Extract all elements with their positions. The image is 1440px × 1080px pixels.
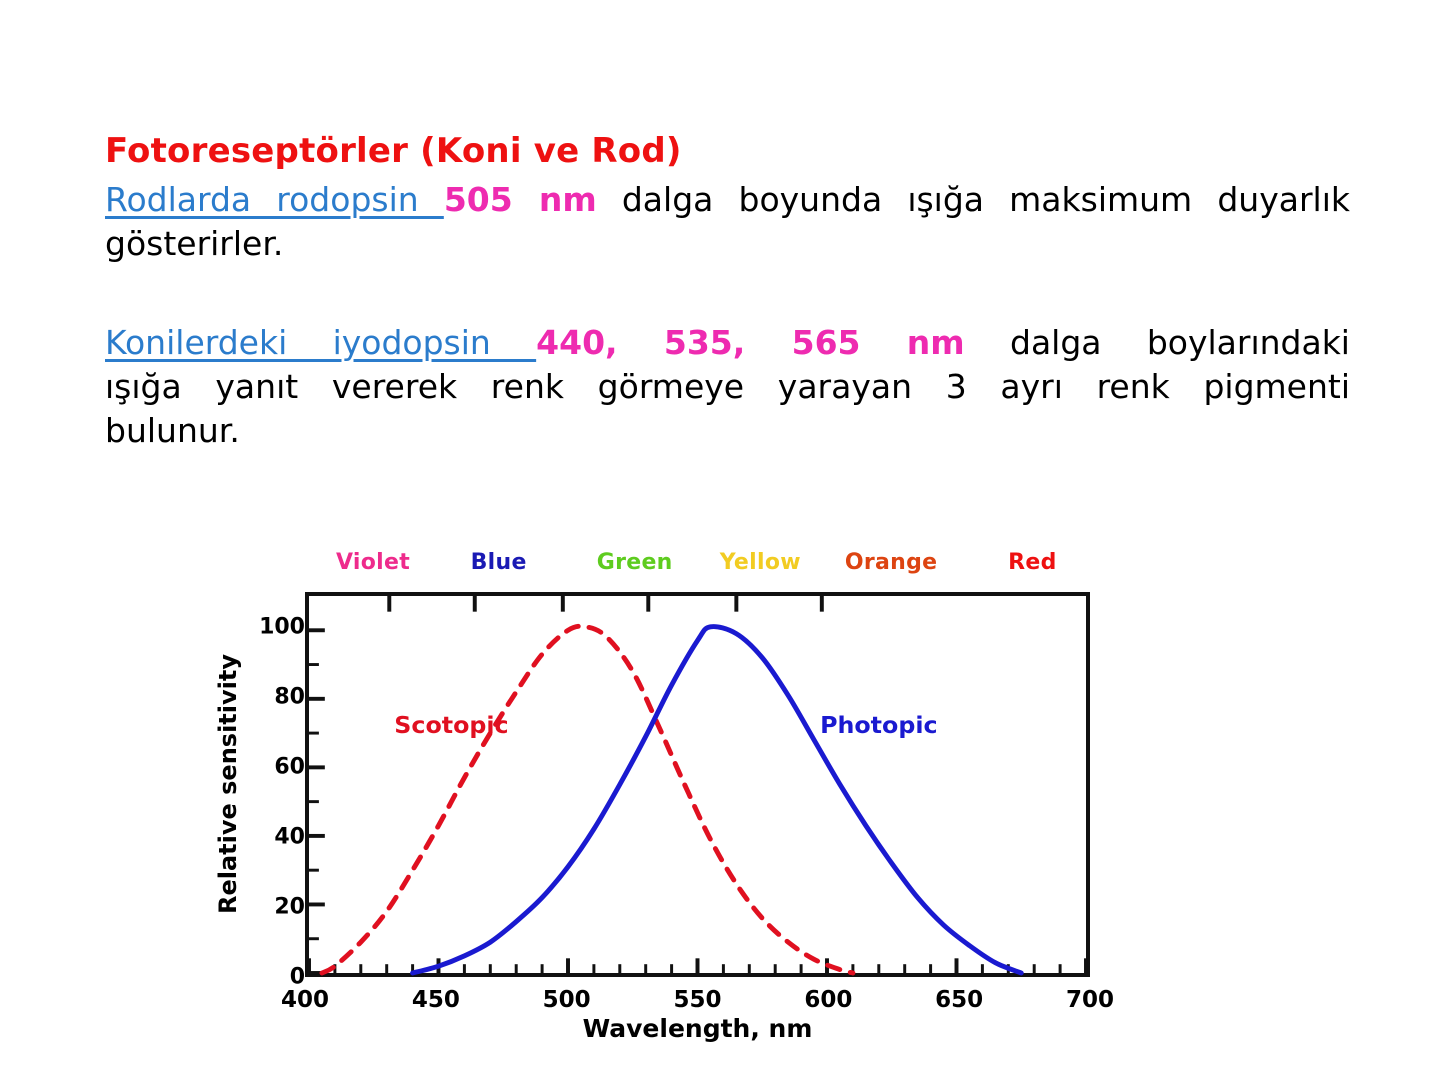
x-tick-600: 600 bbox=[804, 987, 852, 1013]
y-tick-100: 100 bbox=[259, 615, 305, 640]
band-label-red: Red bbox=[1008, 550, 1057, 575]
paragraph-cones-rest: dalga boylarındaki bbox=[965, 323, 1350, 362]
band-label-green: Green bbox=[597, 550, 673, 575]
y-tick-80: 80 bbox=[259, 685, 305, 710]
slide-canvas: Fotoreseptörler (Koni ve Rod) Rodlarda r… bbox=[0, 0, 1440, 1080]
link-konilerdeki-iyodopsin[interactable]: Konilerdeki iyodopsin bbox=[105, 323, 536, 362]
plot-svg: ScotopicPhotopic bbox=[309, 596, 1086, 973]
paragraph-cones: Konilerdeki iyodopsin 440, 535, 565 nm d… bbox=[105, 321, 1350, 453]
paragraph-spacer bbox=[105, 266, 1350, 320]
x-tick-450: 450 bbox=[412, 987, 460, 1013]
x-tick-700: 700 bbox=[1066, 987, 1114, 1013]
y-tick-40: 40 bbox=[259, 825, 305, 850]
x-tick-550: 550 bbox=[673, 987, 721, 1013]
page-title: Fotoreseptörler (Koni ve Rod) bbox=[105, 130, 1350, 172]
sensitivity-chart: VioletBlueGreenYellowOrangeRed Relative … bbox=[205, 540, 1135, 1060]
x-tick-500: 500 bbox=[543, 987, 591, 1013]
y-axis-title: Relative sensitivity bbox=[213, 592, 243, 977]
band-label-blue: Blue bbox=[471, 550, 527, 575]
paragraph-cones-line2: ışığa yanıt vererek renk görmeye yarayan… bbox=[105, 365, 1350, 409]
highlight-505nm: 505 nm bbox=[444, 180, 597, 219]
y-tick-60: 60 bbox=[259, 755, 305, 780]
text-content: Fotoreseptörler (Koni ve Rod) Rodlarda r… bbox=[105, 130, 1350, 453]
link-rodlarda-rodopsin[interactable]: Rodlarda rodopsin bbox=[105, 180, 444, 219]
annotation-scotopic: Scotopic bbox=[394, 711, 508, 739]
paragraph-rods: Rodlarda rodopsin 505 nm dalga boyunda ı… bbox=[105, 178, 1350, 266]
band-label-orange: Orange bbox=[845, 550, 938, 575]
plot-area: ScotopicPhotopic bbox=[305, 592, 1090, 977]
band-label-violet: Violet bbox=[336, 550, 410, 575]
x-tick-650: 650 bbox=[935, 987, 983, 1013]
y-axis-tick-labels: 020406080100 bbox=[247, 592, 305, 977]
paragraph-rods-rest: dalga boyunda ışığa maksimum duyarlık bbox=[597, 180, 1350, 219]
band-label-yellow: Yellow bbox=[720, 550, 801, 575]
x-axis-tick-labels: 400450500550600650700 bbox=[305, 977, 1090, 1017]
highlight-440-535-565nm: 440, 535, 565 nm bbox=[536, 323, 965, 362]
y-tick-20: 20 bbox=[259, 895, 305, 920]
color-band-labels: VioletBlueGreenYellowOrangeRed bbox=[205, 540, 1135, 586]
paragraph-cones-line3: bulunur. bbox=[105, 411, 240, 450]
paragraph-rods-line2: gösterirler. bbox=[105, 224, 283, 263]
x-tick-400: 400 bbox=[281, 987, 329, 1013]
curve-photopic bbox=[413, 627, 1022, 973]
x-axis-title: Wavelength, nm bbox=[305, 1014, 1090, 1043]
annotation-photopic: Photopic bbox=[820, 711, 937, 739]
curve-scotopic bbox=[322, 626, 853, 973]
y-axis-title-text: Relative sensitivity bbox=[214, 654, 242, 914]
y-tick-0: 0 bbox=[259, 965, 305, 990]
